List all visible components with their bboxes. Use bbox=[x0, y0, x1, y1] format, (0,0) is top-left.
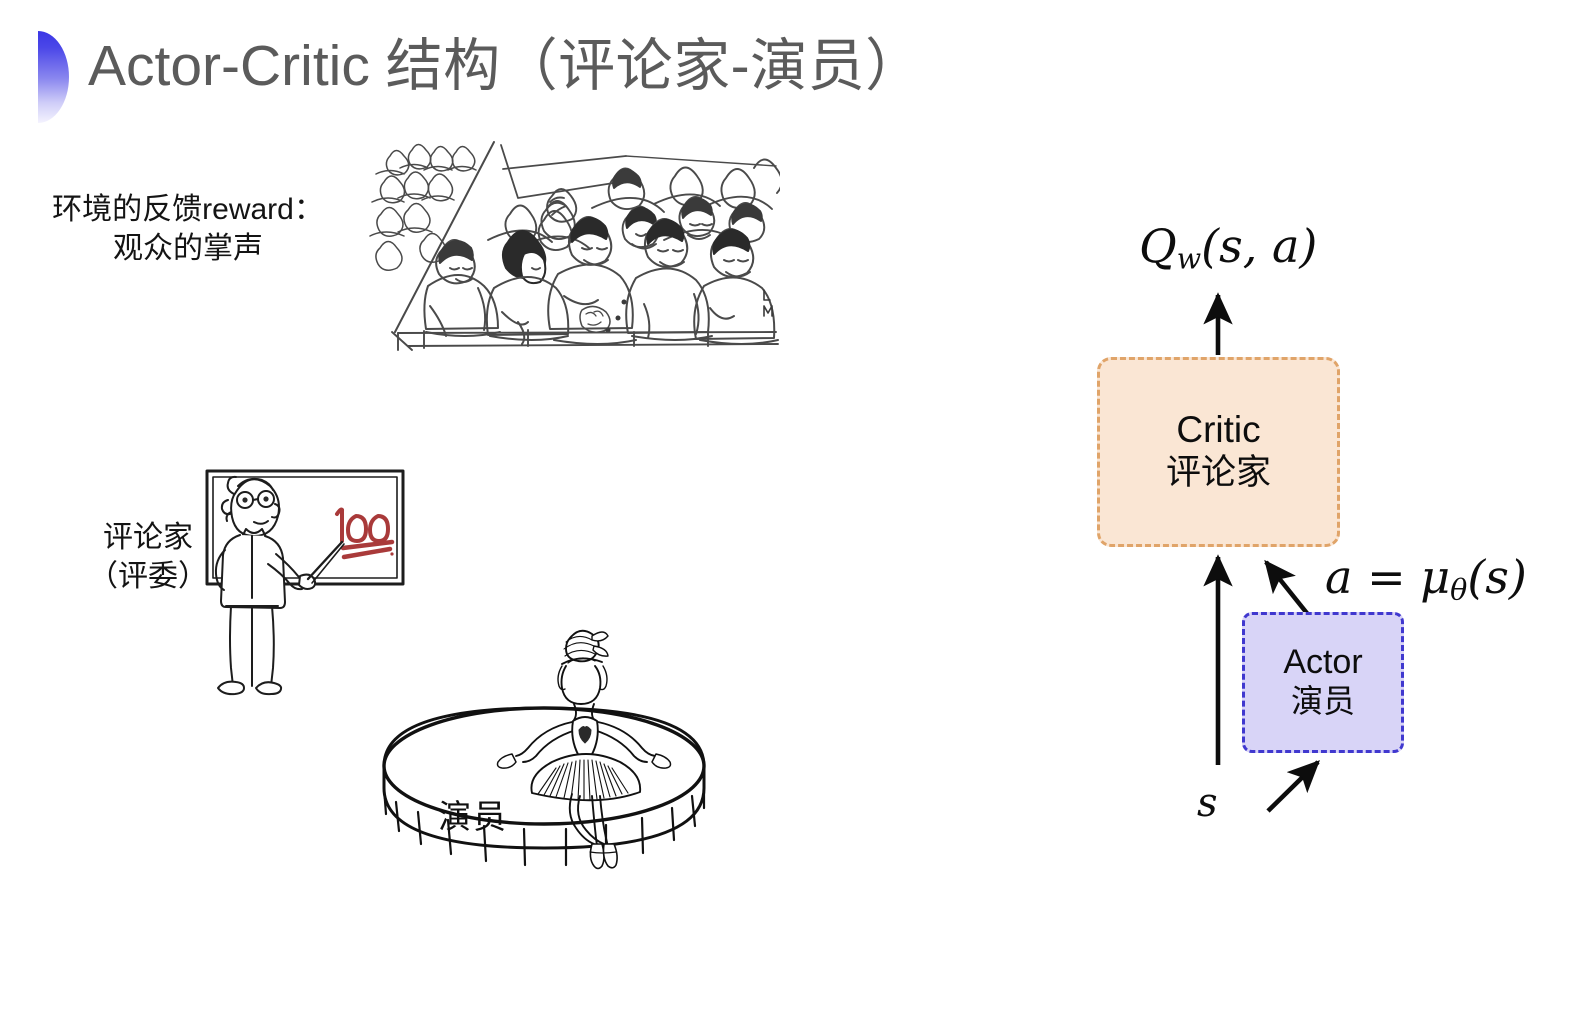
output-formula-args: (s, a) bbox=[1201, 219, 1317, 273]
reward-caption: 环境的反馈reward： 观众的掌声 bbox=[48, 190, 328, 268]
ballerina-stage-sketch-icon bbox=[366, 618, 722, 920]
reward-caption-line2: 观众的掌声 bbox=[48, 229, 328, 268]
audience-sketch-icon bbox=[368, 136, 780, 358]
actor-node-label-cn: 演员 bbox=[1291, 683, 1355, 721]
slide-canvas: Actor-Critic 结构（评论家-演员） 环境的反馈reward： 观众的… bbox=[0, 0, 1592, 1012]
output-formula-base: Q bbox=[1139, 219, 1177, 273]
half-circle-bullet-icon bbox=[38, 31, 69, 123]
actor-critic-diagram: Qw(s, a) Critic 评论家 a = μθ(s) Actor 演员 s bbox=[1075, 205, 1585, 865]
actor-node[interactable]: Actor 演员 bbox=[1242, 612, 1404, 753]
action-formula-base: μ bbox=[1420, 550, 1450, 604]
reward-caption-line1: 环境的反馈reward： bbox=[48, 190, 328, 229]
action-formula-args: (s) bbox=[1467, 550, 1527, 604]
action-formula-lhs: a bbox=[1325, 550, 1352, 604]
stage-label: 演员 bbox=[438, 790, 508, 838]
page-title: Actor-Critic 结构（评论家-演员） bbox=[88, 33, 923, 100]
state-symbol: s bbox=[1197, 780, 1218, 826]
output-formula-subscript: w bbox=[1177, 242, 1201, 275]
actor-to-critic-arrow bbox=[1266, 562, 1310, 617]
action-formula: a = μθ(s) bbox=[1325, 550, 1527, 606]
critic-node[interactable]: Critic 评论家 bbox=[1097, 357, 1340, 547]
page-title-cn: 结构（评论家-演员） bbox=[386, 34, 923, 98]
state-to-actor-arrow bbox=[1268, 762, 1318, 811]
critic-node-label-cn: 评论家 bbox=[1166, 452, 1271, 493]
actor-node-label-en: Actor bbox=[1283, 644, 1362, 681]
critic-node-label-en: Critic bbox=[1176, 410, 1260, 450]
action-formula-subscript: θ bbox=[1450, 573, 1467, 606]
page-title-latin: Actor-Critic bbox=[88, 34, 386, 98]
action-formula-equals: = bbox=[1367, 550, 1406, 604]
output-formula: Qw(s, a) bbox=[1139, 219, 1317, 275]
